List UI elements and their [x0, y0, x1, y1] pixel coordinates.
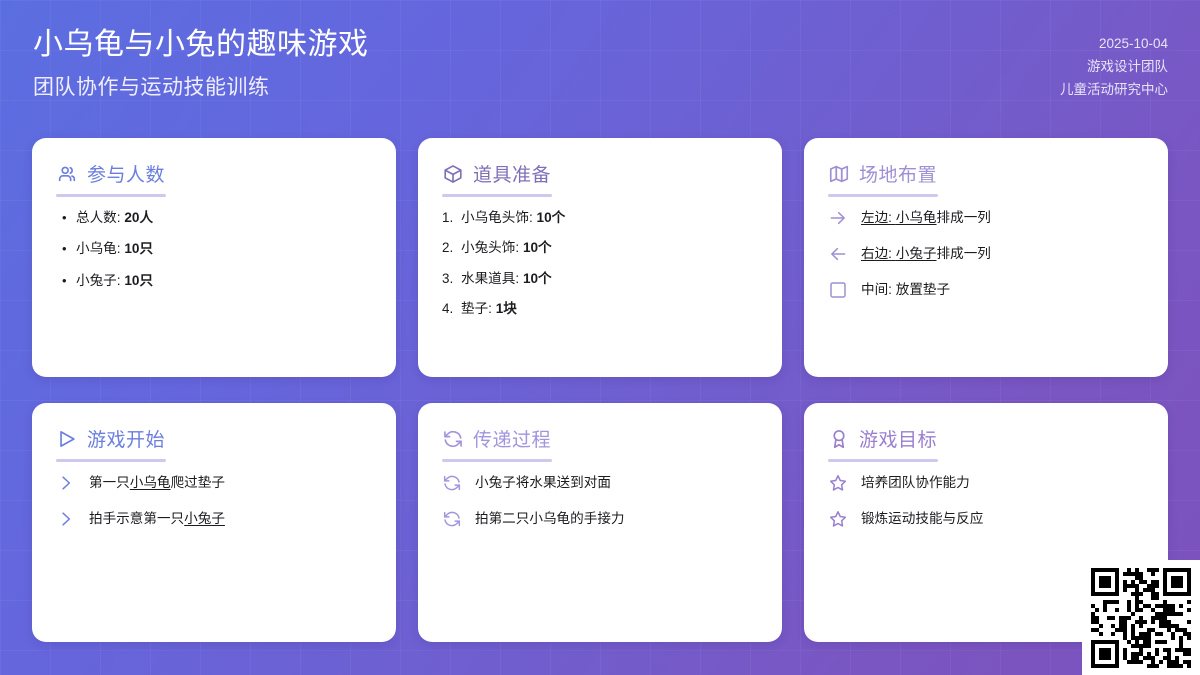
list-item: 左边: 小乌龟排成一列 [828, 209, 1144, 228]
square-icon [828, 280, 850, 300]
list-item-text: 培养团队协作能力 [861, 474, 1144, 492]
refresh-icon [442, 509, 464, 529]
list-item: •小兔子: 10只 [56, 272, 372, 290]
list-item-value: 20人 [124, 210, 153, 225]
list-item: 2.小兔头饰: 10个 [442, 239, 758, 257]
list-item-value: 1块 [496, 301, 517, 316]
list-item-text: 水果道具: 10个 [461, 270, 758, 288]
card-pass-process: 传递过程小兔子将水果送到对面拍第二只小乌龟的手接力 [418, 403, 782, 642]
card-list: •总人数: 20人•小乌龟: 10只•小兔子: 10只 [56, 209, 372, 290]
list-item-value: 10只 [124, 273, 153, 288]
header-date: 2025-10-04 [1060, 32, 1168, 55]
card-title: 传递过程 [473, 425, 551, 452]
list-item-label: 垫子: [461, 301, 496, 316]
users-icon [56, 163, 78, 185]
list-item-prefix: 小兔子将水果送到对面 [475, 475, 611, 490]
bullet-marker: • [62, 272, 76, 290]
chevron-right-icon [56, 509, 78, 529]
box-icon [442, 163, 464, 185]
card-title: 参与人数 [87, 160, 165, 187]
card-header: 参与人数 [56, 160, 372, 194]
card-list: 左边: 小乌龟排成一列右边: 小兔子排成一列中间: 放置垫子 [828, 209, 1144, 300]
list-item-highlight: 小兔子 [896, 246, 937, 261]
bullet-marker: • [62, 209, 76, 227]
list-item-prefix: 左边: [861, 210, 896, 225]
map-icon [828, 163, 850, 185]
card-title-underline [828, 459, 938, 462]
card-title-underline [56, 194, 166, 197]
card-title-underline [56, 459, 166, 462]
list-item: 第一只小乌龟爬过垫子 [56, 474, 372, 493]
card-list: 小兔子将水果送到对面拍第二只小乌龟的手接力 [442, 474, 758, 529]
card-venue: 场地布置左边: 小乌龟排成一列右边: 小兔子排成一列中间: 放置垫子 [804, 138, 1168, 377]
refresh-icon [442, 428, 464, 450]
list-item-text: 拍手示意第一只小兔子 [89, 510, 372, 528]
card-game-start: 游戏开始第一只小乌龟爬过垫子拍手示意第一只小兔子 [32, 403, 396, 642]
card-header: 传递过程 [442, 425, 758, 459]
list-item: 拍第二只小乌龟的手接力 [442, 510, 758, 529]
list-item-text: 总人数: 20人 [76, 209, 372, 227]
bullet-marker: • [62, 240, 76, 258]
star-icon [828, 473, 850, 493]
list-item-highlight: 小乌龟 [896, 210, 937, 225]
list-item-prefix: 右边: [861, 246, 896, 261]
card-header: 游戏目标 [828, 425, 1144, 459]
card-list: 培养团队协作能力锻炼运动技能与反应 [828, 474, 1144, 529]
list-item: 培养团队协作能力 [828, 474, 1144, 493]
list-item: 3.水果道具: 10个 [442, 270, 758, 288]
card-title-underline [442, 459, 552, 462]
header-title-block: 小乌龟与小兔的趣味游戏 团队协作与运动技能训练 [33, 26, 369, 101]
award-icon [828, 428, 850, 450]
list-item-highlight: 小兔子 [184, 511, 225, 526]
list-item-text: 左边: 小乌龟排成一列 [861, 209, 1144, 227]
list-item-text: 拍第二只小乌龟的手接力 [475, 510, 758, 528]
header-meta-block: 2025-10-04 游戏设计团队 儿童活动研究中心 [1060, 32, 1168, 102]
list-item-highlight: 小乌龟 [130, 475, 171, 490]
list-item-label: 总人数: [76, 210, 124, 225]
list-item: 拍手示意第一只小兔子 [56, 510, 372, 529]
list-item: 锻炼运动技能与反应 [828, 510, 1144, 529]
list-item-text: 垫子: 1块 [461, 300, 758, 318]
card-header: 道具准备 [442, 160, 758, 194]
list-item-number: 4. [442, 300, 461, 318]
card-title: 游戏开始 [87, 425, 165, 452]
list-item: 中间: 放置垫子 [828, 281, 1144, 300]
list-item-text: 小兔子: 10只 [76, 272, 372, 290]
list-item-text: 小乌龟头饰: 10个 [461, 209, 758, 227]
list-item-text: 第一只小乌龟爬过垫子 [89, 474, 372, 492]
card-props: 道具准备1.小乌龟头饰: 10个2.小兔头饰: 10个3.水果道具: 10个4.… [418, 138, 782, 377]
list-item-label: 小兔头饰: [461, 240, 523, 255]
qr-code[interactable] [1082, 560, 1200, 675]
list-item-prefix: 中间: 放置垫子 [861, 282, 950, 297]
card-header: 游戏开始 [56, 425, 372, 459]
star-icon [828, 509, 850, 529]
list-item-text: 小乌龟: 10只 [76, 240, 372, 258]
play-icon [56, 428, 78, 450]
list-item-value: 10个 [523, 240, 552, 255]
arrow-right-icon [828, 208, 850, 228]
card-list: 第一只小乌龟爬过垫子拍手示意第一只小兔子 [56, 474, 372, 529]
page-subtitle: 团队协作与运动技能训练 [33, 71, 369, 101]
list-item-text: 小兔头饰: 10个 [461, 239, 758, 257]
list-item-prefix: 锻炼运动技能与反应 [861, 511, 983, 526]
list-item-value: 10个 [537, 210, 566, 225]
list-item-suffix: 爬过垫子 [171, 475, 225, 490]
card-title: 道具准备 [473, 160, 551, 187]
card-grid: 参与人数•总人数: 20人•小乌龟: 10只•小兔子: 10只道具准备1.小乌龟… [32, 138, 1168, 642]
header-org: 儿童活动研究中心 [1060, 78, 1168, 101]
card-participants: 参与人数•总人数: 20人•小乌龟: 10只•小兔子: 10只 [32, 138, 396, 377]
list-item-number: 2. [442, 239, 461, 257]
list-item-prefix: 拍第二只小乌龟的手接力 [475, 511, 625, 526]
card-title: 游戏目标 [859, 425, 937, 452]
list-item-value: 10只 [124, 241, 153, 256]
list-item: •小乌龟: 10只 [56, 240, 372, 258]
list-item-prefix: 第一只 [89, 475, 130, 490]
refresh-icon [442, 473, 464, 493]
list-item-number: 1. [442, 209, 461, 227]
card-title-underline [828, 194, 938, 197]
page-header: 小乌龟与小兔的趣味游戏 团队协作与运动技能训练 2025-10-04 游戏设计团… [0, 0, 1200, 120]
list-item: 右边: 小兔子排成一列 [828, 245, 1144, 264]
card-title-underline [442, 194, 552, 197]
list-item-label: 水果道具: [461, 271, 523, 286]
list-item: 小兔子将水果送到对面 [442, 474, 758, 493]
list-item-label: 小乌龟: [76, 241, 124, 256]
list-item-label: 小兔子: [76, 273, 124, 288]
list-item-value: 10个 [523, 271, 552, 286]
card-header: 场地布置 [828, 160, 1144, 194]
list-item-text: 锻炼运动技能与反应 [861, 510, 1144, 528]
list-item: 1.小乌龟头饰: 10个 [442, 209, 758, 227]
list-item-number: 3. [442, 270, 461, 288]
list-item-prefix: 培养团队协作能力 [861, 475, 970, 490]
list-item: •总人数: 20人 [56, 209, 372, 227]
list-item-suffix: 排成一列 [937, 246, 991, 261]
list-item-label: 小乌龟头饰: [461, 210, 537, 225]
list-item-text: 中间: 放置垫子 [861, 281, 1144, 299]
card-list: 1.小乌龟头饰: 10个2.小兔头饰: 10个3.水果道具: 10个4.垫子: … [442, 209, 758, 318]
page-title: 小乌龟与小兔的趣味游戏 [33, 26, 369, 64]
list-item-text: 右边: 小兔子排成一列 [861, 245, 1144, 263]
list-item-prefix: 拍手示意第一只 [89, 511, 184, 526]
list-item-text: 小兔子将水果送到对面 [475, 474, 758, 492]
list-item-suffix: 排成一列 [937, 210, 991, 225]
qr-code-image [1091, 568, 1191, 668]
chevron-right-icon [56, 473, 78, 493]
header-team: 游戏设计团队 [1060, 55, 1168, 78]
list-item: 4.垫子: 1块 [442, 300, 758, 318]
card-title: 场地布置 [859, 160, 937, 187]
arrow-left-icon [828, 244, 850, 264]
